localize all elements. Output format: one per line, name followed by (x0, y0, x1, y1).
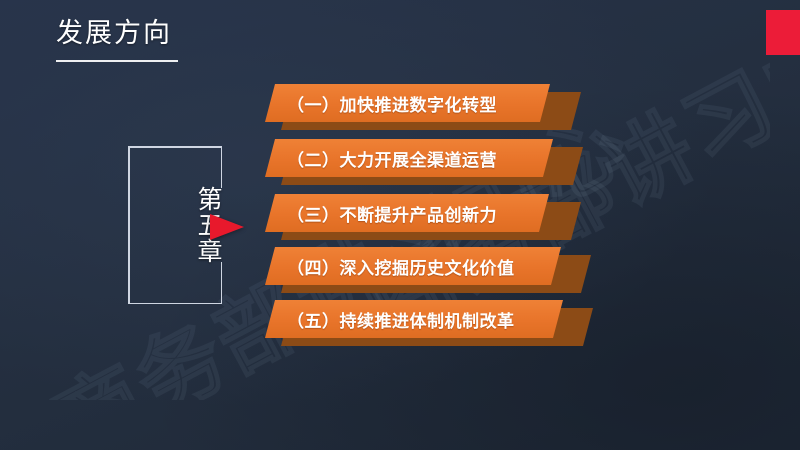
banner-label: （一）加快推进数字化转型 (287, 84, 497, 122)
chapter-number-label: 第五章 (128, 162, 222, 288)
slide-title-group: 发展方向 (56, 18, 178, 62)
chapter-frame-bottom-edge (128, 303, 222, 305)
banner-label: （三）不断提升产品创新力 (287, 194, 497, 232)
chapter-frame-top-edge (128, 146, 222, 148)
presentation-slide: 商务部讲习中心 商务部讲习中心 发展方向 第五章 （一）加快推进数字化转型 （二… (0, 0, 800, 450)
banner-item-4[interactable]: （四）深入挖掘历史文化价值 (265, 247, 685, 295)
banner-item-3[interactable]: （三）不断提升产品创新力 (265, 194, 685, 242)
page-title: 发展方向 (56, 18, 178, 49)
banner-label: （四）深入挖掘历史文化价值 (287, 247, 515, 285)
banner-item-2[interactable]: （二）大力开展全渠道运营 (265, 139, 685, 187)
red-triangle-arrow-icon (210, 214, 244, 240)
banner-item-5[interactable]: （五）持续推进体制机制改革 (265, 300, 685, 348)
title-underline-rule (56, 60, 178, 62)
red-corner-accent-block (766, 10, 800, 55)
chapter-frame: 第五章 (128, 146, 222, 304)
banner-label: （五）持续推进体制机制改革 (287, 300, 515, 338)
banner-label: （二）大力开展全渠道运营 (287, 139, 497, 177)
direction-banner-list: （一）加快推进数字化转型 （二）大力开展全渠道运营 （三）不断提升产品创新力 （… (265, 84, 685, 344)
banner-item-1[interactable]: （一）加快推进数字化转型 (265, 84, 685, 132)
